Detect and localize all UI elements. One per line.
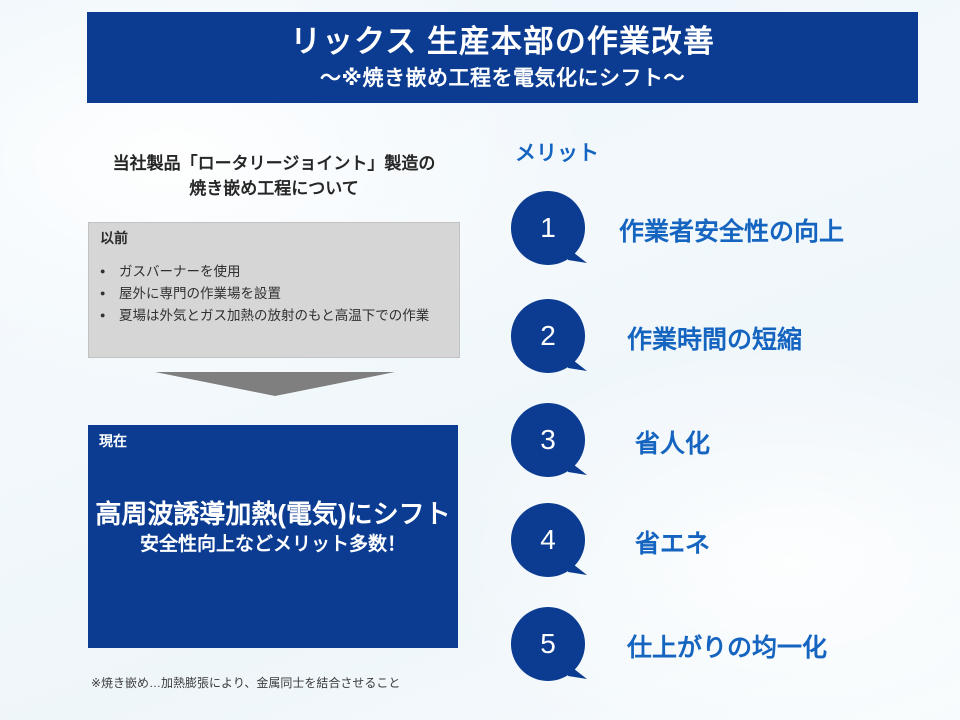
after-panel-body: 高周波誘導加熱(電気)にシフト 安全性向上などメリット多数！ — [88, 499, 458, 556]
after-panel-sub-text: 安全性向上などメリット多数！ — [88, 534, 458, 557]
list-item: 夏場は外気とガス加熱の放射のもと高温下での作業 — [100, 305, 459, 327]
merit-label-1: 作業者安全性の向上 — [619, 218, 844, 247]
slide-canvas: リックス 生産本部の作業改善 〜※焼き嵌め工程を電気化にシフト〜 当社製品「ロー… — [0, 0, 960, 720]
merit-bubble-3: 3 — [511, 403, 593, 485]
merit-item-4: 4 省エネ — [511, 498, 931, 590]
merit-item-2: 2 作業時間の短縮 — [511, 294, 931, 386]
merit-number-2: 2 — [511, 299, 585, 373]
list-item: ガスバーナーを使用 — [100, 261, 459, 283]
left-heading-line-2: 焼き嵌め工程について — [88, 177, 460, 202]
merit-number-4: 4 — [511, 503, 585, 577]
merit-label-5: 仕上がりの均一化 — [627, 634, 827, 663]
after-panel-main-text: 高周波誘導加熱(電気)にシフト — [88, 499, 458, 530]
merit-item-3: 3 省人化 — [511, 398, 931, 490]
before-panel: 以前 ガスバーナーを使用 屋外に専門の作業場を設置 夏場は外気とガス加熱の放射の… — [88, 222, 460, 358]
slide-title: リックス 生産本部の作業改善 — [290, 25, 715, 59]
list-item: 屋外に専門の作業場を設置 — [100, 283, 459, 305]
merit-label-3: 省人化 — [635, 430, 710, 459]
after-panel-label: 現在 — [99, 433, 458, 450]
merit-number-5: 5 — [511, 607, 585, 681]
before-panel-label: 以前 — [100, 230, 459, 247]
merit-label-4: 省エネ — [635, 530, 710, 559]
left-heading-line-1: 当社製品「ロータリージョイント」製造の — [88, 152, 460, 177]
down-arrow-icon — [155, 372, 395, 396]
merit-item-5: 5 仕上がりの均一化 — [511, 602, 931, 694]
merit-bubble-2: 2 — [511, 299, 593, 381]
merit-item-1: 1 作業者安全性の向上 — [511, 186, 931, 278]
merit-bubble-4: 4 — [511, 503, 593, 585]
title-bar: リックス 生産本部の作業改善 〜※焼き嵌め工程を電気化にシフト〜 — [87, 12, 918, 103]
merit-number-3: 3 — [511, 403, 585, 477]
merit-number-1: 1 — [511, 191, 585, 265]
slide-subtitle: 〜※焼き嵌め工程を電気化にシフト〜 — [320, 67, 685, 90]
merit-section-heading: メリット — [515, 142, 599, 165]
merit-label-2: 作業時間の短縮 — [627, 326, 802, 355]
footnote: ※焼き嵌め…加熱膨張により、金属同士を結合させること — [91, 676, 400, 690]
after-panel: 現在 高周波誘導加熱(電気)にシフト 安全性向上などメリット多数！ — [88, 425, 458, 648]
before-bullet-list: ガスバーナーを使用 屋外に専門の作業場を設置 夏場は外気とガス加熱の放射のもと高… — [100, 261, 459, 327]
merit-bubble-5: 5 — [511, 607, 593, 689]
merit-bubble-1: 1 — [511, 191, 593, 273]
left-column-heading: 当社製品「ロータリージョイント」製造の 焼き嵌め工程について — [88, 152, 460, 201]
